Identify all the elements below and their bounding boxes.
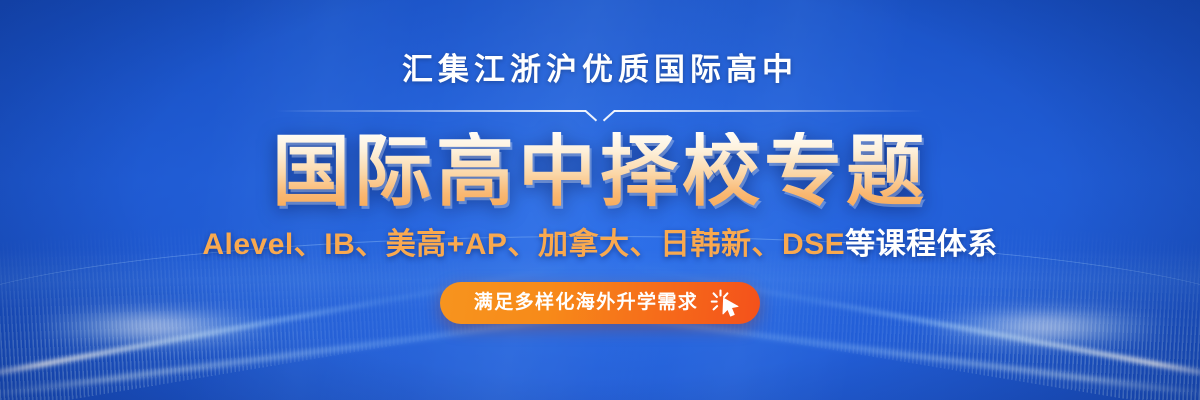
cta-button-label: 满足多样化海外升学需求	[474, 293, 698, 312]
course-list-line: Alevel、IB、美高+AP、加拿大、日韩新、DSE等课程体系	[202, 230, 997, 260]
click-cursor-icon	[709, 286, 743, 320]
banner-subtitle: 汇集江浙沪优质国际高中	[402, 54, 798, 85]
cta-button[interactable]: 满足多样化海外升学需求	[440, 282, 760, 324]
divider-rule-left	[276, 110, 586, 112]
banner-content: 汇集江浙沪优质国际高中 国际高中择校专题 Alevel、IB、美高+AP、加拿大…	[0, 0, 1200, 400]
course-list-plain: 等课程体系	[845, 228, 998, 261]
divider-rule-right	[614, 110, 924, 112]
page-title: 国际高中择校专题	[272, 132, 928, 212]
course-list-highlight: Alevel、IB、美高+AP、加拿大、日韩新、DSE	[202, 228, 845, 261]
promo-banner: 汇集江浙沪优质国际高中 国际高中择校专题 Alevel、IB、美高+AP、加拿大…	[0, 0, 1200, 400]
divider-chevron-notch	[587, 110, 613, 123]
chevron-down-divider-icon	[276, 104, 924, 120]
